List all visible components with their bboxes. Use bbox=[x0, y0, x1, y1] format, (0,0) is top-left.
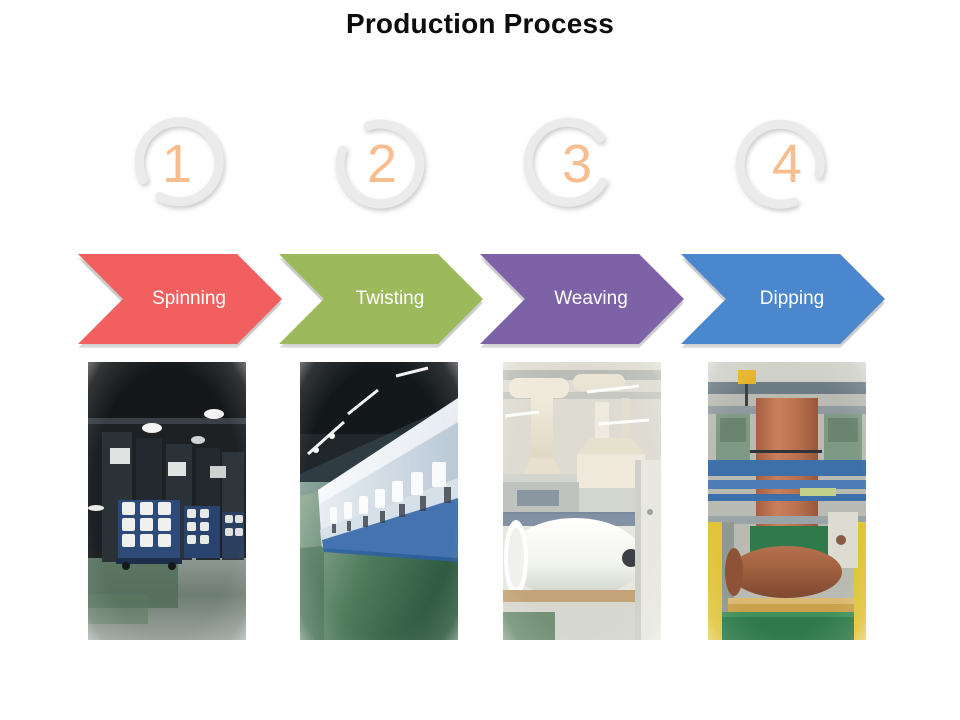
slide-canvas: Production Process 1 bbox=[0, 0, 960, 720]
photo-dipping bbox=[708, 362, 866, 640]
step-number-label: 2 bbox=[326, 110, 434, 218]
step-ring-3: 3 bbox=[521, 110, 629, 218]
step-ring-1: 1 bbox=[121, 110, 229, 218]
chevron-label: Twisting bbox=[356, 288, 425, 310]
chevron-label: Dipping bbox=[760, 288, 824, 310]
chevron-label: Weaving bbox=[554, 288, 628, 310]
chevron-label: Spinning bbox=[152, 288, 226, 310]
step-number-label: 1 bbox=[121, 110, 229, 218]
photo-twisting bbox=[300, 362, 458, 640]
page-title: Production Process bbox=[0, 8, 960, 40]
step-number-label: 4 bbox=[731, 110, 839, 218]
step-ring-2: 2 bbox=[326, 110, 434, 218]
step-number-label: 3 bbox=[521, 110, 629, 218]
step-number-row: 1 2 3 bbox=[0, 104, 960, 224]
process-photo-row bbox=[0, 362, 960, 652]
step-ring-4: 4 bbox=[731, 110, 839, 218]
photo-spinning bbox=[88, 362, 246, 640]
photo-weaving bbox=[503, 362, 661, 640]
process-chevron-row: Spinning Twisting Weaving Dipping bbox=[0, 254, 960, 350]
